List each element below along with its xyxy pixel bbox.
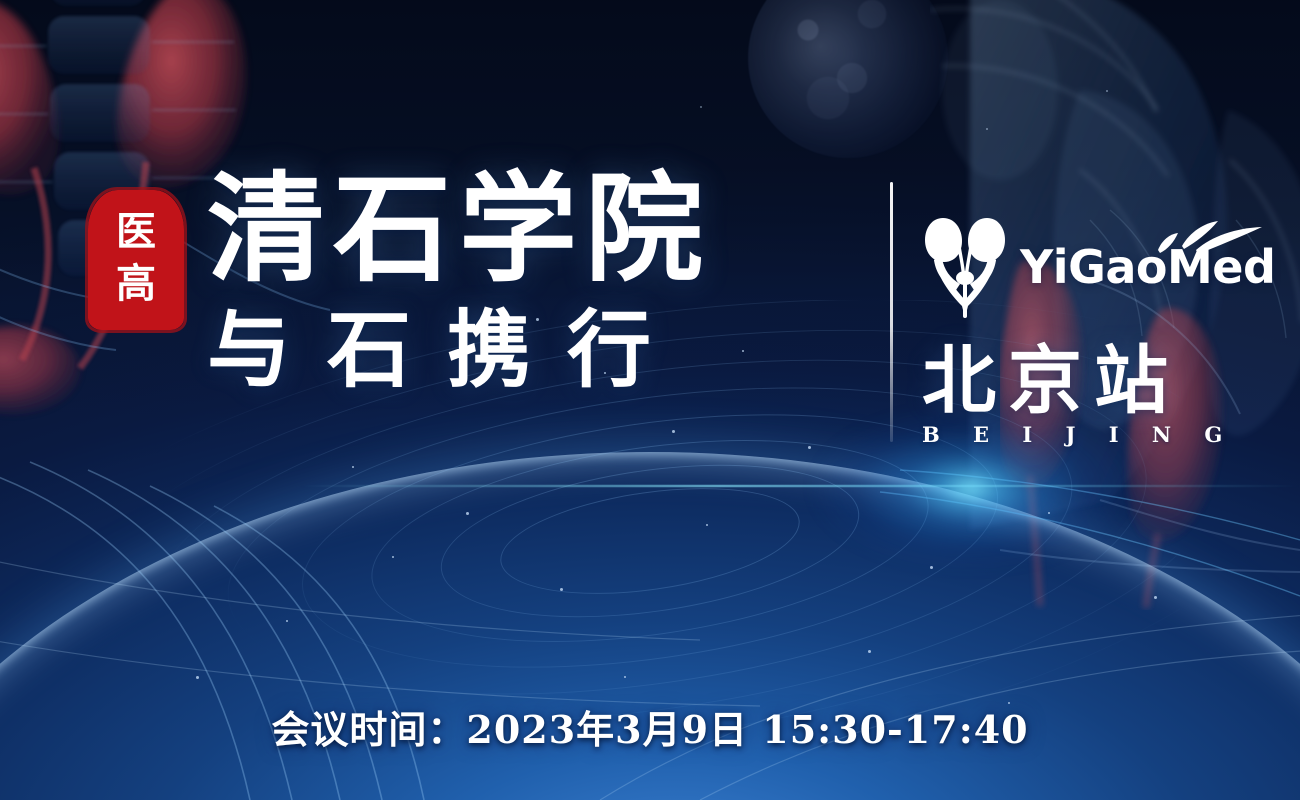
poster-title: 清石学院 与石携行 xyxy=(207,170,867,392)
title-line-2: 与石携行 xyxy=(207,308,867,392)
poster-content: 医 高 清石学院 与石携行 xyxy=(0,0,1300,800)
city-name-en: B E I J I N G xyxy=(922,424,1222,445)
conference-poster: 医 高 清石学院 与石携行 xyxy=(0,0,1300,800)
meeting-time-text: 会议时间：2023年3月9日 15:30-17:40 xyxy=(0,706,1300,754)
city-name-cn: 北京站 xyxy=(922,344,1222,418)
city-block: 北京站 B E I J I N G xyxy=(922,344,1222,445)
vertical-divider xyxy=(890,182,893,442)
title-line-1: 清石学院 xyxy=(207,170,867,288)
seal-char-top: 医 xyxy=(88,212,184,252)
seal-char-bottom: 高 xyxy=(88,264,184,304)
kidney-urinary-tract-icon xyxy=(922,214,1008,320)
medical-seal-stamp: 医 高 xyxy=(88,190,184,330)
leaf-swoosh-icon xyxy=(1152,220,1272,264)
brand-block: YiGaoMed xyxy=(922,212,1272,327)
